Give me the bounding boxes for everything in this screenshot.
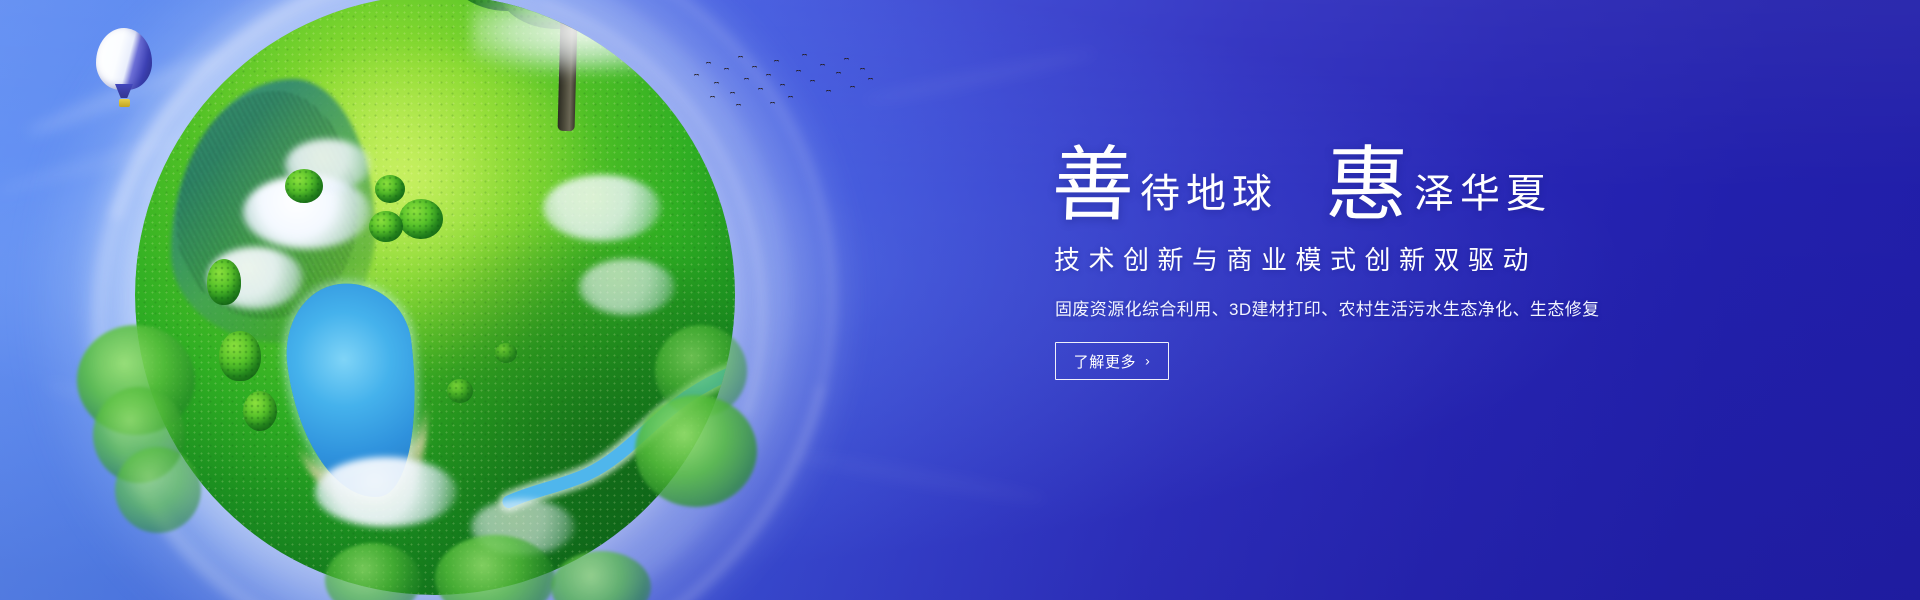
headline-small-text: 泽华夏 — [1414, 174, 1552, 214]
tree-clump — [447, 379, 473, 403]
tree-clump — [399, 199, 443, 239]
tree-clump — [369, 211, 403, 242]
page-title: 善 待地球 惠 泽华夏 — [1052, 126, 1752, 222]
headline-segment-1: 善 待地球 — [1052, 145, 1278, 222]
chevron-right-icon: › — [1145, 354, 1150, 368]
learn-more-button[interactable]: 了解更多 › — [1055, 342, 1169, 380]
balloon-skirt — [115, 84, 133, 98]
headline-segment-2: 惠 泽华夏 — [1326, 145, 1552, 222]
hero-banner: 善 待地球 惠 泽华夏 技术创新与商业模式创新双驱动 固废资源化综合利用、3D建… — [0, 0, 1920, 600]
cloud-puff — [579, 259, 675, 315]
tree-clump — [495, 343, 517, 363]
rim-tree — [635, 395, 757, 507]
earth-globe-illustration — [135, 0, 735, 600]
tree-clump — [219, 331, 261, 381]
tree-clump — [243, 391, 277, 431]
tree-clump — [285, 169, 323, 203]
headline-small-text: 待地球 — [1140, 174, 1278, 214]
globe-sphere — [135, 0, 735, 595]
balloon-envelope — [96, 28, 152, 90]
headline-big-char: 惠 — [1325, 147, 1410, 224]
banner-description: 固废资源化综合利用、3D建材打印、农村生活污水生态净化、生态修复 — [1055, 295, 1752, 320]
cloud-puff — [543, 175, 661, 241]
tree-clump — [375, 175, 405, 203]
flock-of-birds-icon — [690, 48, 880, 110]
balloon-basket — [119, 99, 130, 107]
banner-subtitle: 技术创新与商业模式创新双驱动 — [1054, 240, 1752, 277]
tree-mist — [471, 0, 721, 75]
tree-clump — [207, 259, 241, 305]
hot-air-balloon-icon — [96, 28, 152, 114]
cloud-puff — [315, 457, 457, 527]
headline-big-char: 善 — [1051, 147, 1136, 224]
rim-tree — [115, 447, 201, 533]
learn-more-label: 了解更多 — [1074, 351, 1136, 372]
banner-copy: 善 待地球 惠 泽华夏 技术创新与商业模式创新双驱动 固废资源化综合利用、3D建… — [1052, 126, 1752, 380]
